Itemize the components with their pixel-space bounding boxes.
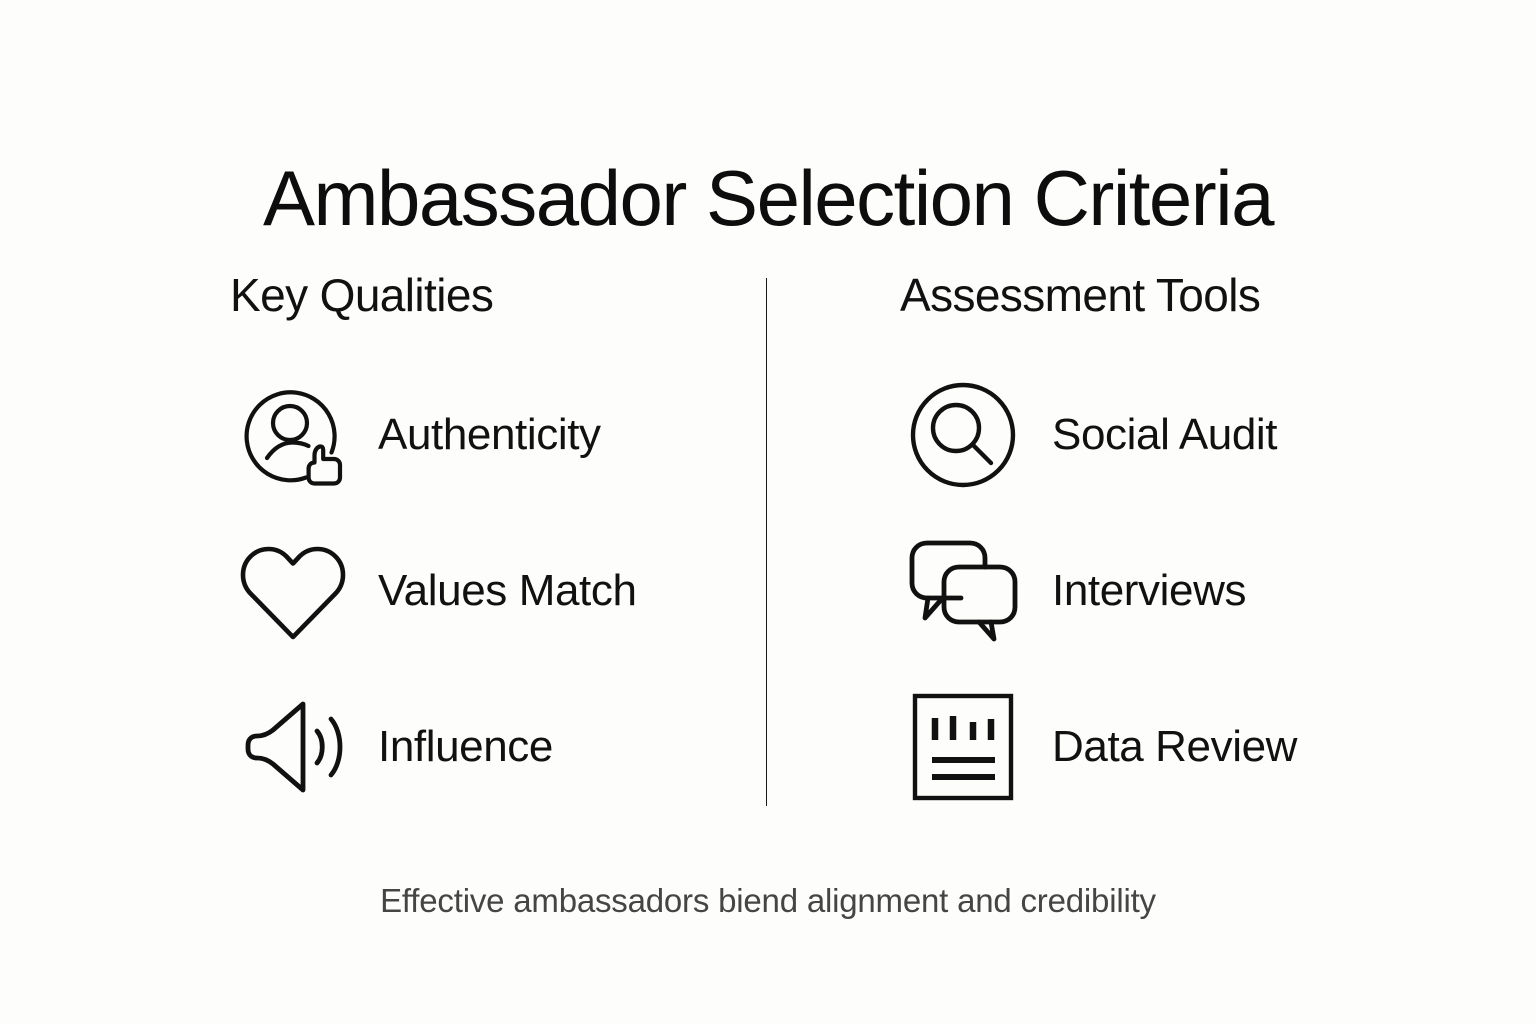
heart-icon — [230, 532, 356, 650]
list-item-label: Social Audit — [1052, 413, 1277, 457]
column-heading-left: Key Qualities — [230, 272, 766, 318]
list-item-data-review[interactable]: Data Review — [900, 688, 1402, 806]
column-key-qualities: Key Qualities Authenticity — [130, 272, 766, 806]
list-item-label: Interviews — [1052, 569, 1246, 613]
list-item-label: Data Review — [1052, 725, 1297, 769]
list-item-label: Authenticity — [378, 413, 601, 457]
list-item-values-match[interactable]: Values Match — [230, 532, 766, 650]
magnifier-circle-icon — [900, 376, 1026, 494]
column-heading-right: Assessment Tools — [900, 272, 1402, 318]
list-item-social-audit[interactable]: Social Audit — [900, 376, 1402, 494]
person-thumbs-up-icon — [230, 376, 356, 494]
slide-canvas: Ambassador Selection Criteria Key Qualit… — [0, 0, 1536, 1024]
page-title: Ambassador Selection Criteria — [0, 156, 1536, 242]
chart-document-icon — [900, 688, 1026, 806]
list-item-influence[interactable]: Influence — [230, 688, 766, 806]
columns-container: Key Qualities Authenticity — [130, 272, 1406, 812]
list-item-interviews[interactable]: Interviews — [900, 532, 1402, 650]
speaker-waves-icon — [230, 688, 356, 806]
column-assessment-tools: Assessment Tools Social Audit — [766, 272, 1402, 806]
list-item-authenticity[interactable]: Authenticity — [230, 376, 766, 494]
list-item-label: Influence — [378, 725, 553, 769]
footer-caption: Effective ambassadors biend alignment an… — [0, 882, 1536, 920]
list-item-label: Values Match — [378, 569, 637, 613]
speech-bubbles-icon — [900, 532, 1026, 650]
